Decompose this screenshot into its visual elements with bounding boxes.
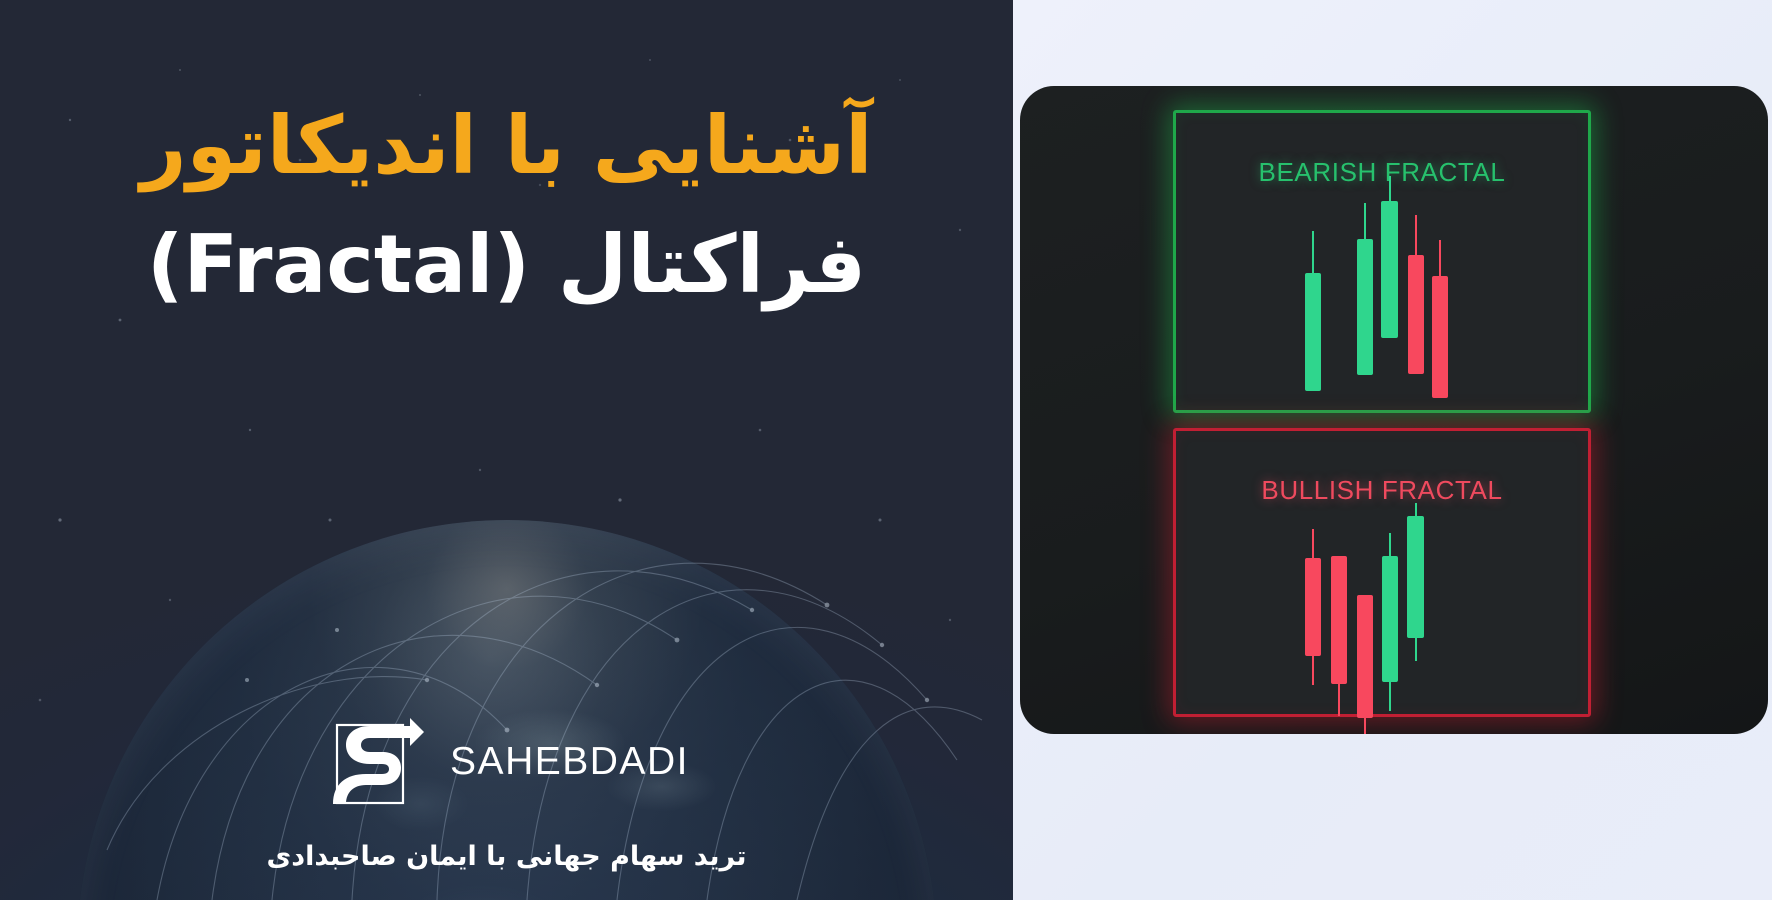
- candle-bearish-3: [1381, 176, 1398, 338]
- candle-body: [1407, 516, 1424, 638]
- candle-bearish-2: [1357, 203, 1373, 375]
- fractal-illustration-card: BEARISH FRACTAL: [1020, 86, 1768, 734]
- bullish-candle-group: [1176, 431, 1588, 714]
- candle-body: [1381, 201, 1398, 338]
- candle-bullish-5: [1407, 503, 1424, 661]
- headline-block: آشنایی با اندیکاتور فراکتال (Fractal): [0, 96, 1013, 316]
- candle-bullish-2: [1331, 556, 1347, 716]
- bullish-fractal-panel: BULLISH FRACTAL: [1173, 428, 1591, 717]
- candle-body: [1305, 558, 1321, 656]
- slide-canvas: آشنایی با اندیکاتور فراکتال (Fractal) SA…: [0, 0, 1772, 900]
- candle-body: [1408, 255, 1424, 374]
- s-arrow-logo-icon: [324, 716, 452, 808]
- candle-body: [1357, 239, 1373, 375]
- network-arcs-decoration: [7, 430, 1007, 900]
- candle-bullish-3: [1357, 595, 1373, 734]
- headline-line-2: فراکتال (Fractal): [22, 215, 991, 316]
- candle-body: [1382, 556, 1398, 682]
- candle-bullish-4: [1382, 533, 1398, 711]
- candle-body: [1331, 556, 1347, 684]
- bearish-candle-group: [1176, 113, 1588, 410]
- candle-bullish-1: [1305, 529, 1321, 685]
- candle-body: [1432, 276, 1448, 398]
- candle-bearish-5: [1432, 240, 1448, 398]
- brand-tagline: ترید سهام جهانی با ایمان صاحبدادی: [0, 841, 1013, 872]
- bearish-fractal-panel: BEARISH FRACTAL: [1173, 110, 1591, 413]
- candle-bearish-4: [1408, 215, 1424, 374]
- logo-wordmark: SAHEBDADI: [450, 740, 689, 784]
- headline-line-1: آشنایی با اندیکاتور: [22, 96, 991, 197]
- left-hero-panel: آشنایی با اندیکاتور فراکتال (Fractal) SA…: [0, 0, 1013, 900]
- candle-bearish-1: [1305, 231, 1321, 391]
- brand-logo: SAHEBDADI: [0, 716, 1013, 808]
- candle-body: [1357, 595, 1373, 718]
- candle-body: [1305, 273, 1321, 391]
